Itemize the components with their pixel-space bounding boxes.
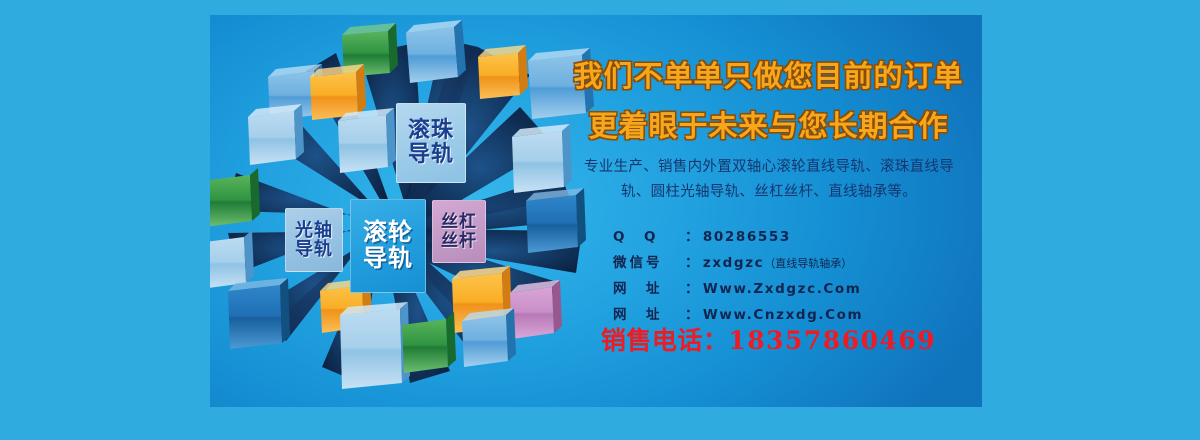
product-label-line1: 丝杠 <box>441 213 477 231</box>
contact-label-wechat: 微信号 <box>613 251 685 277</box>
contact-row-wechat: 微信号 ： zxdgzc （直线导轨轴承） <box>613 251 982 277</box>
promotional-banner: 滚珠 导轨 光轴 导轨 滚轮 导轨 丝杠 丝杆 我们不单单只做您目前的订单 更着… <box>0 0 1200 440</box>
product-label-line1: 滚珠 <box>408 119 454 143</box>
banner-text-column: 我们不单单只做您目前的订单 更着眼于未来与您长期合作 专业生产、销售内外置双轴心… <box>555 15 982 407</box>
contact-separator: ： <box>685 277 703 303</box>
cube-blue-mid-left <box>248 104 304 165</box>
contact-info-list: Q Q ： 80286553 微信号 ： zxdgzc （直线导轨轴承） 网 址… <box>613 225 982 329</box>
cube-orange-upleft <box>310 64 366 120</box>
cube-blue-mid-center <box>338 108 396 173</box>
product-label-ball-guide-rail[interactable]: 滚珠 导轨 <box>396 103 466 183</box>
contact-row-qq: Q Q ： 80286553 <box>613 225 982 251</box>
contact-row-website-1: 网 址 ： Www.Zxdgzc.Com <box>613 277 982 303</box>
contact-label-qq: Q Q <box>613 225 685 251</box>
company-description: 专业生产、销售内外置双轴心滚轮直线导轨、滚珠直线导轨、圆柱光轴导轨、丝杠丝杆、直… <box>583 155 955 205</box>
sales-phone-label: 销售电话： <box>601 326 729 355</box>
cube-blue-bottom-right <box>462 308 516 367</box>
cube-blue-top-right <box>406 20 466 83</box>
product-label-line2: 导轨 <box>408 143 454 167</box>
sales-phone[interactable]: 销售电话：18357860469 <box>555 321 982 357</box>
banner-panel: 滚珠 导轨 光轴 导轨 滚轮 导轨 丝杠 丝杆 我们不单单只做您目前的订单 更着… <box>210 15 982 407</box>
product-label-line2: 导轨 <box>363 246 413 272</box>
contact-separator: ： <box>685 225 703 251</box>
contact-label-website: 网 址 <box>613 277 685 303</box>
product-label-line2: 导轨 <box>295 240 333 259</box>
product-label-line1: 光轴 <box>295 221 333 240</box>
product-label-roller-guide-rail[interactable]: 滚轮 导轨 <box>350 199 426 293</box>
product-label-optical-axis-rail[interactable]: 光轴 导轨 <box>285 208 343 272</box>
cube-blue-lower-left2 <box>228 278 290 349</box>
cube-blue-bottom-center <box>340 302 410 389</box>
product-label-lead-screw[interactable]: 丝杠 丝杆 <box>432 200 486 263</box>
sales-phone-number[interactable]: 18357860469 <box>728 326 936 355</box>
contact-note-wechat: （直线导轨轴承） <box>764 253 852 274</box>
cube-orange-topright <box>478 45 528 99</box>
headline-line-2: 更着眼于未来与您长期合作 <box>555 103 982 145</box>
contact-value-website-1[interactable]: Www.Zxdgzc.Com <box>703 277 862 303</box>
contact-value-wechat[interactable]: zxdgzc <box>703 251 764 277</box>
cube-blue-lower-left <box>210 230 254 289</box>
headline-line-1: 我们不单单只做您目前的订单 <box>555 53 982 95</box>
contact-separator: ： <box>685 251 703 277</box>
product-label-line1: 滚轮 <box>363 220 413 246</box>
contact-value-qq[interactable]: 80286553 <box>703 225 791 251</box>
product-label-line2: 丝杆 <box>441 232 477 250</box>
